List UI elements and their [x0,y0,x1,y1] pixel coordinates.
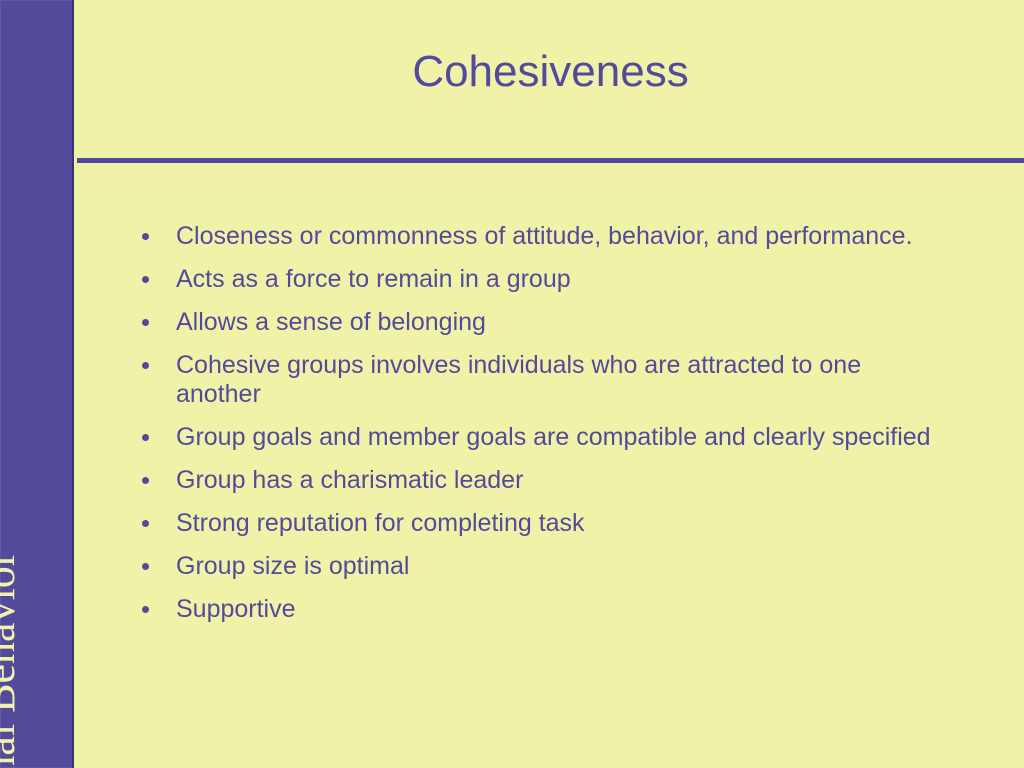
list-item: Allows a sense of belonging [138,308,938,337]
list-item-label: Allows a sense of belonging [176,308,936,337]
title-divider [77,158,1024,163]
vertical-banner: Organizational Behavior [0,0,74,768]
page-title: Cohesiveness [77,42,1024,102]
list-item-label: Cohesive groups involves individuals who… [176,351,936,409]
list-item: Group goals and member goals are compati… [138,423,938,452]
vertical-banner-label: Organizational Behavior [0,552,37,768]
bullet-dot-icon [142,319,149,326]
list-item-label: Group goals and member goals are compati… [176,423,936,452]
bullet-dot-icon [142,563,149,570]
title-area: Cohesiveness [77,42,1024,122]
list-item: Closeness or commonness of attitude, beh… [138,222,938,251]
list-item-label: Group has a charismatic leader [176,466,936,495]
bullet-dot-icon [142,362,149,369]
bullet-dot-icon [142,434,149,441]
list-item: Acts as a force to remain in a group [138,265,938,294]
content-body: Closeness or commonness of attitude, beh… [138,222,938,638]
bullet-dot-icon [142,606,149,613]
list-item: Supportive [138,595,938,624]
bullet-dot-icon [142,276,149,283]
bullet-dot-icon [142,477,149,484]
list-item-label: Supportive [176,595,936,624]
list-item: Cohesive groups involves individuals who… [138,351,938,409]
list-item-label: Strong reputation for completing task [176,509,936,538]
bullet-list: Closeness or commonness of attitude, beh… [138,222,938,624]
vertical-banner-text-wrapper: Organizational Behavior [0,68,74,768]
list-item: Group has a charismatic leader [138,466,938,495]
list-item-label: Acts as a force to remain in a group [176,265,936,294]
bullet-dot-icon [142,233,149,240]
list-item: Group size is optimal [138,552,938,581]
list-item: Strong reputation for completing task [138,509,938,538]
list-item-label: Closeness or commonness of attitude, beh… [176,222,936,251]
bullet-dot-icon [142,520,149,527]
slide: Organizational Behavior Cohesiveness Clo… [0,0,1024,768]
list-item-label: Group size is optimal [176,552,936,581]
